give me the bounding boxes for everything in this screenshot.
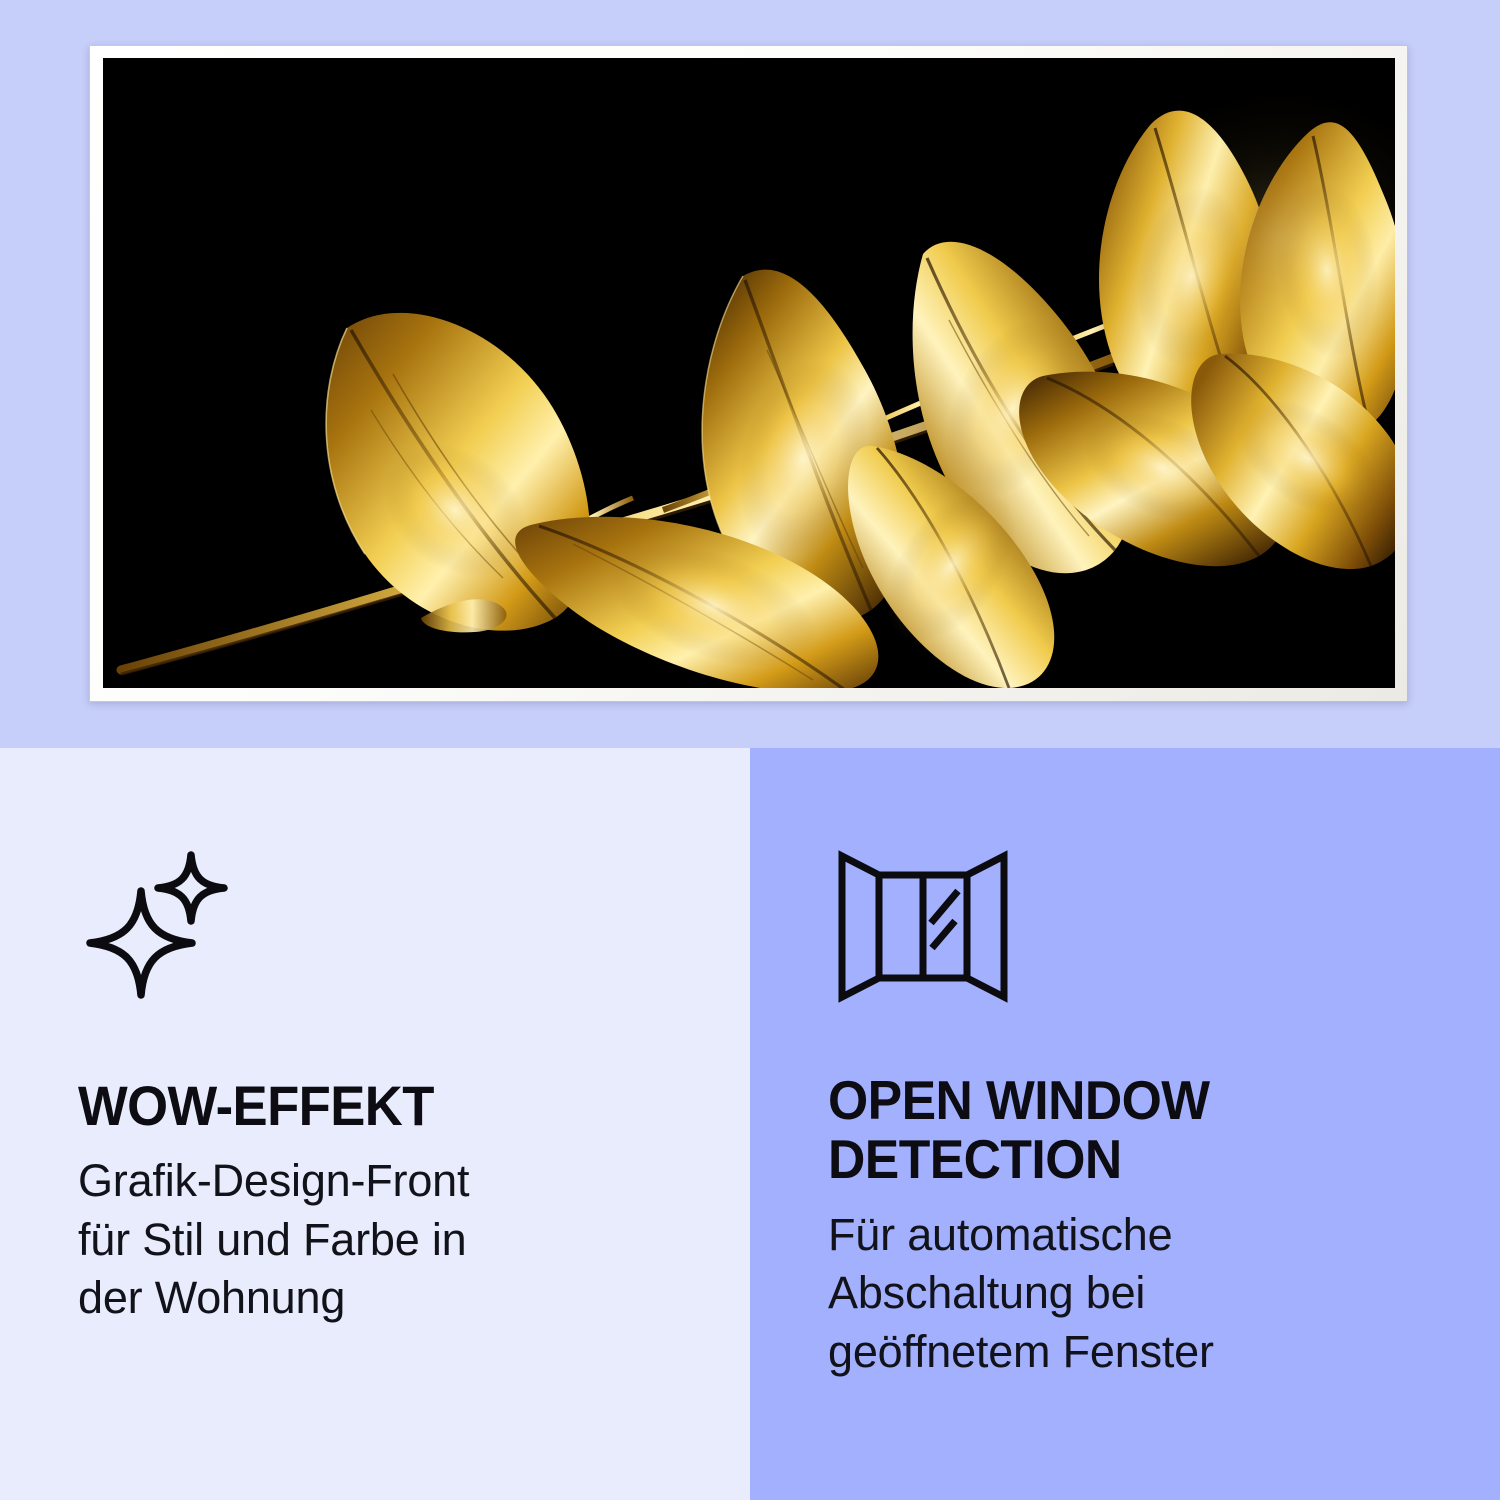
artwork-canvas [103, 58, 1395, 688]
sparkle-icon [78, 844, 243, 1004]
picture-frame [89, 45, 1408, 702]
product-feature-graphic: WOW-EFFEKT Grafik-Design-Front für Stil … [0, 0, 1500, 1500]
hero-section [0, 0, 1500, 748]
feature-panel-open-window-detection: OPEN WINDOW DETECTION Für automatische A… [750, 748, 1500, 1500]
feature-body-wow-effekt: Grafik-Design-Front für Stil und Farbe i… [78, 1152, 618, 1328]
feature-title-wow-effekt: WOW-EFFEKT [78, 1076, 642, 1136]
golden-leaves-illustration [103, 58, 1395, 688]
feature-panels: WOW-EFFEKT Grafik-Design-Front für Stil … [0, 748, 1500, 1500]
feature-body-open-window-detection: Für automatische Abschaltung bei geöffne… [828, 1206, 1388, 1382]
open-window-icon [828, 844, 1018, 1009]
feature-title-open-window-detection: OPEN WINDOW DETECTION [828, 1071, 1392, 1190]
feature-panel-wow-effekt: WOW-EFFEKT Grafik-Design-Front für Stil … [0, 748, 750, 1500]
